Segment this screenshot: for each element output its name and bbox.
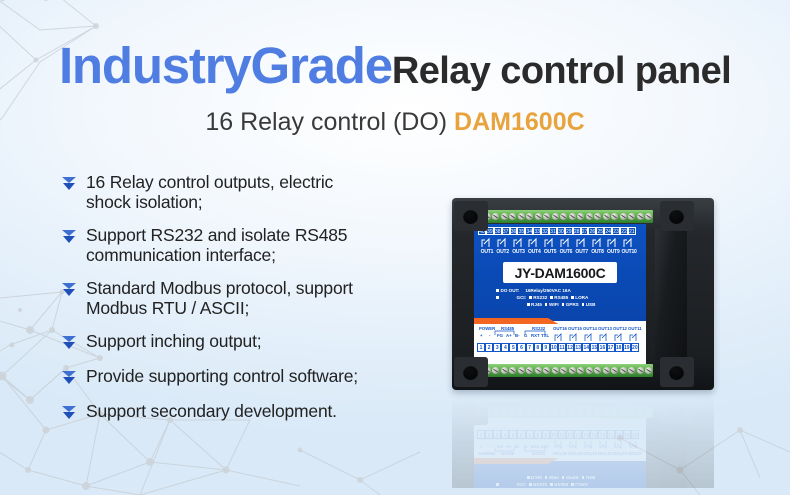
screw-icon	[628, 367, 635, 374]
double-chevron-down-icon	[60, 174, 80, 196]
screw-icon	[552, 408, 559, 415]
relay-symbol-icon	[558, 237, 574, 248]
bottom-out-label: OUT15	[568, 326, 582, 331]
terminal-number: 15	[590, 430, 598, 439]
terminal-screw-row	[483, 210, 653, 223]
screw-icon	[637, 213, 644, 220]
terminal-number: 1	[477, 430, 485, 439]
output-label: OUT7	[574, 249, 590, 255]
terminal-number: 25	[596, 227, 604, 235]
screw-icon	[492, 367, 499, 374]
rs485-pin: FG	[497, 444, 503, 449]
screw-icon	[560, 367, 567, 374]
model-label-text: JY-DAM1600C	[515, 265, 606, 281]
rs232-pin: RXT	[531, 444, 540, 449]
screw-icon	[586, 213, 593, 220]
top-terminal-number-row: 4039383736353433323130292827262524232221	[478, 227, 636, 235]
gci-option: RS485	[554, 481, 568, 488]
terminal-number: 28	[573, 227, 581, 235]
terminal-number: 6	[517, 343, 525, 352]
terminal-number: 26	[588, 227, 596, 235]
rs232-group-label: RS232	[532, 451, 545, 456]
gci-label: GCI:	[517, 294, 527, 301]
top-terminal-block	[483, 210, 653, 223]
output-label: OUT5	[542, 249, 558, 255]
screw-icon	[620, 408, 627, 415]
list-item: Support RS232 and isolate RS485 communic…	[60, 225, 460, 265]
terminal-number: 7	[526, 430, 534, 439]
double-chevron-down-icon	[60, 368, 80, 390]
feature-text: Support RS232 and isolate RS485 communic…	[86, 225, 347, 265]
terminal-number: 24	[604, 227, 612, 235]
terminal-number: 5	[509, 430, 517, 439]
mounting-hole-icon	[463, 209, 478, 224]
device-side-connector-block	[655, 228, 687, 360]
bottom-out-label: OUT13	[598, 326, 612, 331]
screw-icon	[518, 213, 525, 220]
terminal-number: 34	[525, 227, 533, 235]
terminal-number: 35	[517, 227, 525, 235]
bottom-label-row: POWER RS485 RS232 + - FG A+ B- G RXT TXL…	[477, 440, 643, 456]
power-pin: +	[480, 444, 483, 449]
power-group-label: POWER	[479, 451, 495, 456]
screw-icon	[620, 367, 627, 374]
bottom-out-label: OUT12	[613, 326, 627, 331]
checkbox-icon	[550, 483, 553, 486]
relay-symbol-icon	[574, 237, 590, 248]
checkbox-icon	[545, 303, 548, 306]
checkbox-icon	[582, 476, 585, 479]
screw-icon	[560, 213, 567, 220]
terminal-number: 9	[542, 343, 550, 352]
mounting-ear	[454, 357, 488, 387]
output-label: OUT3	[511, 249, 527, 255]
gci-option: GPRS	[566, 301, 579, 308]
terminal-number: 11	[558, 343, 566, 352]
model-label: JY-DAM1600C	[503, 262, 617, 283]
screw-icon	[637, 408, 644, 415]
screw-icon	[577, 367, 584, 374]
bottom-out-label: OUT16	[553, 326, 567, 331]
terminal-number: 33	[533, 227, 541, 235]
checkbox-icon	[545, 476, 548, 479]
page-subtitle: 16 Relay control (DO) DAM1600C	[0, 108, 790, 137]
screw-icon	[628, 213, 635, 220]
spec-row-gci-2: RJ45 WIFI GPRS USB	[496, 474, 646, 481]
mounting-hole-icon	[669, 402, 684, 417]
gci-option: RS232	[533, 294, 547, 301]
terminal-number: 11	[558, 430, 566, 439]
spec-block: DO OUT: 16Relay/250VAC 16A GCI: RS232 RS…	[496, 287, 646, 308]
terminal-screw-row	[483, 405, 653, 418]
double-chevron-down-icon	[60, 280, 80, 302]
gci-option: GPRS	[566, 474, 579, 481]
terminal-number: 13	[574, 430, 582, 439]
bottom-out-label: OUT13	[598, 451, 612, 456]
terminal-number: 13	[574, 343, 582, 352]
checkbox-icon	[527, 303, 530, 306]
faceplate-blue-area: 4039383736353433323130292827262524232221…	[474, 461, 646, 488]
output-label: OUT6	[558, 249, 574, 255]
screw-icon	[501, 213, 508, 220]
spec-block: DO OUT: 16Relay/250VAC 16A GCI: RS232 RS…	[496, 474, 646, 488]
checkbox-icon	[571, 296, 574, 299]
terminal-number: 19	[623, 343, 631, 352]
promo-banner: IndustryGradeRelay control panel 16 Rela…	[0, 0, 790, 495]
mounting-hole-icon	[669, 209, 684, 224]
screw-icon	[603, 408, 610, 415]
list-item: Support inching output;	[60, 331, 460, 353]
checkbox-icon	[529, 483, 532, 486]
terminal-number: 3	[493, 343, 501, 352]
terminal-number: 20	[631, 343, 639, 352]
double-chevron-down-icon	[60, 227, 80, 249]
terminal-number: 2	[485, 430, 493, 439]
screw-icon	[509, 367, 516, 374]
group-bracket-icon	[494, 330, 550, 335]
bottom-terminal-block	[483, 405, 653, 418]
bottom-label-row: POWER RS485 RS232 + - FG A+ B- G RXT TXL…	[477, 326, 643, 342]
terminal-number: 12	[566, 430, 574, 439]
relay-symbol-icon	[621, 237, 637, 248]
screw-icon	[526, 213, 533, 220]
gci-option: RS232	[533, 481, 547, 488]
spec-row-gci-2: RJ45 WIFI GPRS USB	[496, 301, 646, 308]
rs485-group-label: RS485	[501, 451, 514, 456]
feature-text: Support inching output;	[86, 331, 261, 351]
bottom-out-label: OUT11	[628, 326, 642, 331]
device-faceplate: 4039383736353433323130292827262524232221…	[474, 418, 646, 488]
terminal-number: 10	[550, 343, 558, 352]
gci-option: LORA	[575, 481, 588, 488]
screw-icon	[501, 367, 508, 374]
screw-icon	[577, 213, 584, 220]
list-item: Provide supporting control software;	[60, 366, 460, 388]
terminal-number: 17	[607, 430, 615, 439]
feature-list: 16 Relay control outputs, electric shock…	[60, 172, 460, 436]
terminal-number: 21	[628, 227, 636, 235]
terminal-number: 15	[590, 343, 598, 352]
terminal-number: 4	[501, 430, 509, 439]
rs485-pin: A+	[506, 444, 512, 449]
terminal-number: 6	[517, 430, 525, 439]
relay-symbol-icon	[605, 237, 621, 248]
screw-icon	[611, 408, 618, 415]
product-image-relay-module: 4039383736353433323130292827262524232221…	[452, 198, 714, 390]
checkbox-icon	[527, 476, 530, 479]
spec-row-do-out: DO OUT: 16Relay/250VAC 16A	[496, 287, 646, 294]
terminal-number: 8	[534, 430, 542, 439]
group-bracket-icon	[494, 447, 550, 452]
screw-icon	[594, 408, 601, 415]
terminal-number: 9	[542, 430, 550, 439]
screw-icon	[543, 367, 550, 374]
feature-text: Standard Modbus protocol, support Modbus…	[86, 278, 353, 318]
power-pin: +	[480, 333, 483, 338]
terminal-number: 14	[582, 430, 590, 439]
screw-icon	[603, 213, 610, 220]
screw-icon	[569, 408, 576, 415]
gci-option: WIFI	[549, 474, 559, 481]
screw-icon	[594, 213, 601, 220]
rs485-pin: G	[524, 444, 527, 449]
screw-icon	[560, 408, 567, 415]
rs232-pin: TXL	[541, 444, 549, 449]
output-label: OUT4	[526, 249, 542, 255]
product-image-reflection: 4039383736353433323130292827262524232221…	[452, 392, 714, 488]
gci-option: RJ45	[531, 474, 542, 481]
relay-symbol-row	[479, 237, 637, 248]
screw-icon	[603, 367, 610, 374]
bottom-out-label: OUT15	[568, 451, 582, 456]
gci-option: USB	[586, 474, 596, 481]
bottom-terminal-number-row: 1234567891011121314151617181920	[477, 343, 639, 352]
terminal-number: 36	[510, 227, 518, 235]
output-label: OUT9	[605, 249, 621, 255]
terminal-number: 30	[557, 227, 565, 235]
terminal-number: 18	[615, 430, 623, 439]
terminal-number: 5	[509, 343, 517, 352]
terminal-number: 18	[615, 343, 623, 352]
relay-symbol-icon	[590, 237, 606, 248]
gci-option: WIFI	[549, 301, 559, 308]
list-item: Support secondary development.	[60, 401, 460, 423]
bottom-out-label: OUT12	[613, 451, 627, 456]
screw-icon	[552, 213, 559, 220]
list-item: Standard Modbus protocol, support Modbus…	[60, 278, 460, 318]
bullet-square-icon	[496, 296, 499, 299]
screw-icon	[526, 408, 533, 415]
device-case	[452, 392, 714, 488]
terminal-screw-row	[483, 364, 653, 377]
power-pin: -	[489, 333, 490, 338]
screw-icon	[569, 367, 576, 374]
headline-secondary: Relay control panel	[392, 50, 731, 92]
spec-row-gci-1: GCI: RS232 RS485 LORA	[496, 294, 646, 301]
screw-icon	[509, 408, 516, 415]
checkbox-icon	[571, 483, 574, 486]
output-label: OUT2	[495, 249, 511, 255]
mounting-hole-icon	[669, 365, 684, 380]
bottom-out-label: OUT14	[583, 326, 597, 331]
double-chevron-down-icon	[60, 333, 80, 355]
terminal-number: 20	[631, 430, 639, 439]
terminal-number: 1	[477, 343, 485, 352]
screw-icon	[645, 367, 652, 374]
relay-symbol-icon	[479, 237, 495, 248]
screw-icon	[645, 408, 652, 415]
gci-option: USB	[586, 301, 596, 308]
screw-icon	[577, 408, 584, 415]
screw-icon	[518, 367, 525, 374]
feature-text: Provide supporting control software;	[86, 366, 358, 386]
bottom-out-label: OUT11	[628, 451, 642, 456]
screw-icon	[586, 367, 593, 374]
bottom-relay-symbol-row	[553, 440, 645, 450]
terminal-number: 27	[581, 227, 589, 235]
do-out-label: DO OUT:	[501, 287, 520, 294]
screw-icon	[501, 408, 508, 415]
terminal-number: 16	[598, 430, 606, 439]
terminal-number: 8	[534, 343, 542, 352]
page-title: IndustryGradeRelay control panel	[0, 36, 790, 95]
checkbox-icon	[562, 303, 565, 306]
terminal-number: 16	[598, 343, 606, 352]
screw-icon	[535, 367, 542, 374]
bullet-square-icon	[496, 483, 499, 486]
terminal-number: 29	[565, 227, 573, 235]
screw-icon	[611, 367, 618, 374]
list-item: 16 Relay control outputs, electric shock…	[60, 172, 460, 212]
gci-option: RJ45	[531, 301, 542, 308]
terminal-number: 31	[549, 227, 557, 235]
relay-symbol-icon	[526, 237, 542, 248]
mounting-ear	[660, 201, 694, 231]
mounting-hole-icon	[463, 402, 478, 417]
bottom-terminal-number-row: 1234567891011121314151617181920	[477, 430, 639, 439]
screw-icon	[645, 213, 652, 220]
screw-icon	[628, 408, 635, 415]
terminal-number: 7	[526, 343, 534, 352]
terminal-number: 3	[493, 430, 501, 439]
screw-icon	[620, 213, 627, 220]
headline-primary: IndustryGrade	[59, 37, 392, 94]
mounting-ear	[660, 357, 694, 387]
gci-option: LORA	[575, 294, 588, 301]
screw-icon	[611, 213, 618, 220]
bottom-out-label: OUT16	[553, 451, 567, 456]
screw-icon	[492, 408, 499, 415]
checkbox-icon	[582, 303, 585, 306]
terminal-number: 38	[494, 227, 502, 235]
subtitle-model: DAM1600C	[454, 108, 585, 136]
bottom-terminal-block	[483, 364, 653, 377]
output-label: OUT8	[590, 249, 606, 255]
relay-symbol-icon	[511, 237, 527, 248]
terminal-number: 4	[501, 343, 509, 352]
bottom-out-label: OUT14	[583, 451, 597, 456]
faceplate-blue-area: 4039383736353433323130292827262524232221…	[474, 224, 646, 321]
mounting-hole-icon	[463, 365, 478, 380]
device-faceplate: 4039383736353433323130292827262524232221…	[474, 224, 646, 364]
screw-icon	[543, 213, 550, 220]
device-side-connector-block	[655, 422, 687, 488]
checkbox-icon	[550, 296, 553, 299]
terminal-number: 17	[607, 343, 615, 352]
screw-icon	[552, 367, 559, 374]
output-label: OUT1	[479, 249, 495, 255]
terminal-number: 22	[620, 227, 628, 235]
screw-icon	[586, 408, 593, 415]
bullet-square-icon	[496, 289, 499, 292]
screw-icon	[518, 408, 525, 415]
terminal-number: 37	[502, 227, 510, 235]
screw-icon	[637, 367, 644, 374]
terminal-number: 2	[485, 343, 493, 352]
relay-symbol-icon	[495, 237, 511, 248]
double-chevron-down-icon	[60, 403, 80, 425]
screw-icon	[509, 213, 516, 220]
mounting-ear	[454, 201, 488, 231]
screw-icon	[543, 408, 550, 415]
screw-icon	[594, 367, 601, 374]
screw-icon	[526, 367, 533, 374]
accent-strip	[474, 455, 646, 464]
mounting-ear	[660, 395, 694, 425]
terminal-number: 12	[566, 343, 574, 352]
power-pin: -	[489, 444, 490, 449]
subtitle-text: 16 Relay control (DO)	[205, 108, 454, 136]
power-group-label: POWER	[479, 326, 495, 331]
faceplate-white-area: POWER RS485 RS232 + - FG A+ B- G RXT TXL…	[474, 418, 646, 458]
bottom-relay-symbol-row	[553, 332, 645, 342]
feature-text: Support secondary development.	[86, 401, 337, 421]
gci-option: RS485	[554, 294, 568, 301]
terminal-number: 10	[550, 430, 558, 439]
terminal-number: 32	[541, 227, 549, 235]
feature-text: 16 Relay control outputs, electric shock…	[86, 172, 333, 212]
terminal-number: 23	[612, 227, 620, 235]
top-output-label-row: OUT1OUT2OUT3OUT4OUT5OUT6OUT7OUT8OUT9OUT1…	[479, 249, 637, 255]
terminal-number: 14	[582, 343, 590, 352]
checkbox-icon	[562, 476, 565, 479]
rs485-pin: B-	[515, 444, 520, 449]
checkbox-icon	[529, 296, 532, 299]
output-label: OUT10	[621, 249, 637, 255]
terminal-number: 19	[623, 430, 631, 439]
relay-symbol-icon	[542, 237, 558, 248]
screw-icon	[492, 213, 499, 220]
do-out-value: 16Relay/250VAC 16A	[525, 287, 570, 294]
screw-icon	[535, 213, 542, 220]
spec-row-gci-1: GCI: RS232 RS485 LORA	[496, 481, 646, 488]
faceplate-white-area: POWER RS485 RS232 + - FG A+ B- G RXT TXL…	[474, 324, 646, 364]
gci-label: GCI:	[517, 481, 527, 488]
screw-icon	[484, 408, 491, 415]
screw-icon	[569, 213, 576, 220]
screw-icon	[535, 408, 542, 415]
